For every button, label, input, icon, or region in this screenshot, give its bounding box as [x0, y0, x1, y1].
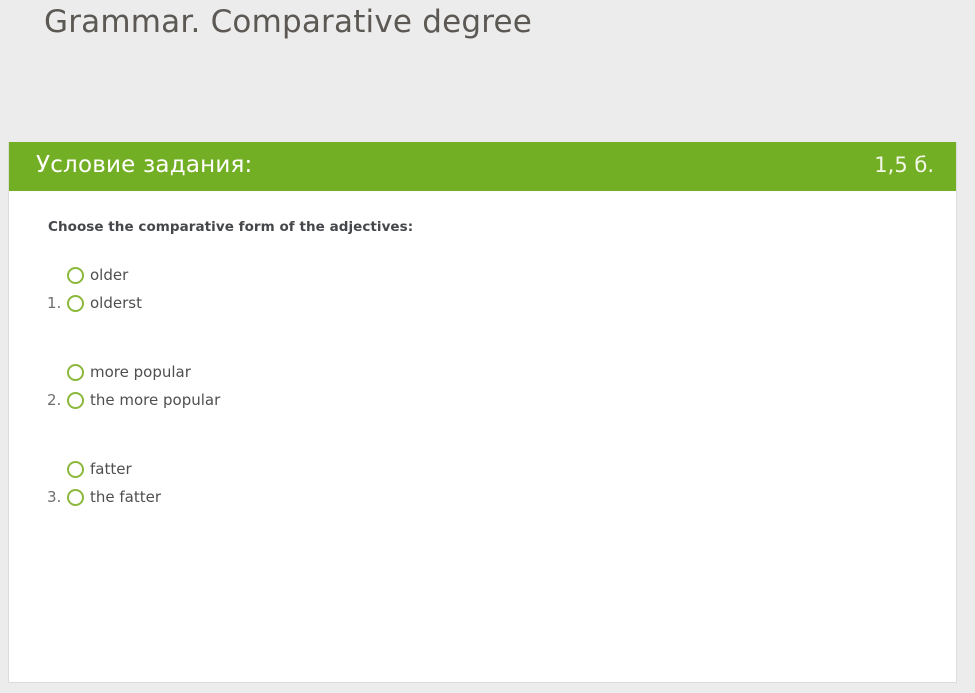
radio-option-label: olderst: [90, 296, 142, 311]
radio-option-label: the more popular: [90, 393, 220, 408]
radio-option-label: older: [90, 268, 128, 283]
page-title: Grammar. Comparative degree: [44, 4, 532, 40]
question-groups: x older 1. olderst x more popular: [9, 261, 956, 511]
task-points-badge: 1,5 б.: [874, 155, 934, 178]
radio-option-label: fatter: [90, 462, 132, 477]
task-card-header-title: Условие задания:: [36, 154, 253, 179]
task-card-body: Choose the comparative form of the adjec…: [9, 191, 956, 682]
radio-button-icon[interactable]: [67, 267, 84, 284]
question-group: x fatter 3. the fatter: [9, 455, 956, 511]
radio-button-icon[interactable]: [67, 295, 84, 312]
radio-option[interactable]: x fatter: [9, 455, 956, 483]
radio-button-icon[interactable]: [67, 392, 84, 409]
radio-option[interactable]: 2. the more popular: [9, 386, 956, 414]
radio-button-icon[interactable]: [67, 461, 84, 478]
radio-option[interactable]: x older: [9, 261, 956, 289]
task-card-header: Условие задания: 1,5 б.: [9, 142, 956, 191]
question-prompt: Choose the comparative form of the adjec…: [48, 219, 956, 235]
radio-button-icon[interactable]: [67, 364, 84, 381]
question-number: 2.: [47, 393, 67, 408]
radio-option[interactable]: 3. the fatter: [9, 483, 956, 511]
radio-option[interactable]: 1. olderst: [9, 289, 956, 317]
question-group: x more popular 2. the more popular: [9, 358, 956, 414]
radio-button-icon[interactable]: [67, 489, 84, 506]
radio-option-label: the fatter: [90, 490, 161, 505]
radio-option-label: more popular: [90, 365, 191, 380]
question-group: x older 1. olderst: [9, 261, 956, 317]
question-number: 1.: [47, 296, 67, 311]
radio-option[interactable]: x more popular: [9, 358, 956, 386]
question-number: 3.: [47, 490, 67, 505]
task-card: Условие задания: 1,5 б. Choose the compa…: [8, 142, 957, 683]
